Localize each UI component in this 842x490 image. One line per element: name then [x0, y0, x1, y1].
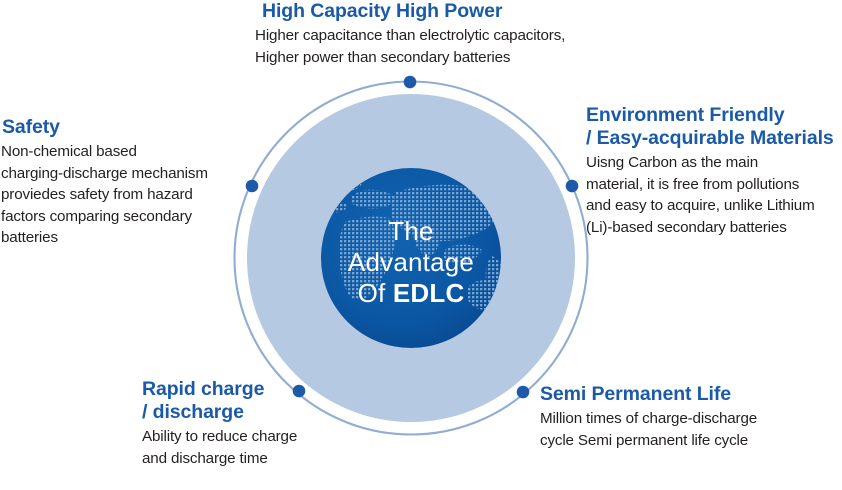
node-dot-semi-permanent-life[interactable] — [517, 386, 530, 399]
callout-rapid-charge-discharge: Rapid charge / discharge Ability to redu… — [142, 378, 352, 469]
callout-title-high-capacity-high-power: High Capacity High Power — [255, 0, 635, 23]
callout-environment-friendly: Environment Friendly / Easy-acquirable M… — [586, 104, 842, 238]
callout-title-semi-permanent-life: Semi Permanent Life — [540, 383, 840, 406]
callout-title-safety: Safety — [0, 116, 245, 139]
infographic-canvas: The Advantage Of EDLC High Capacity High… — [0, 0, 842, 490]
callout-semi-permanent-life: Semi Permanent Life Million times of cha… — [540, 383, 840, 451]
node-dot-safety[interactable] — [246, 180, 259, 193]
callout-high-capacity-high-power: High Capacity High Power Higher capacita… — [255, 0, 635, 68]
node-dot-high-capacity-high-power[interactable] — [404, 76, 417, 89]
callout-safety: Safety Non-chemical based charging-disch… — [0, 116, 245, 249]
callout-body-safety: Non-chemical based charging-discharge me… — [0, 141, 245, 249]
callout-title-environment-friendly: Environment Friendly / Easy-acquirable M… — [586, 104, 842, 150]
callout-body-rapid-charge-discharge: Ability to reduce charge and discharge t… — [142, 426, 352, 469]
callout-body-semi-permanent-life: Million times of charge-discharge cycle … — [540, 408, 840, 451]
node-dot-environment-friendly[interactable] — [566, 180, 579, 193]
callout-title-rapid-charge-discharge: Rapid charge / discharge — [142, 378, 352, 424]
callout-body-environment-friendly: Uisng Carbon as the main material, it is… — [586, 152, 842, 238]
callout-body-high-capacity-high-power: Higher capacitance than electrolytic cap… — [255, 25, 635, 68]
